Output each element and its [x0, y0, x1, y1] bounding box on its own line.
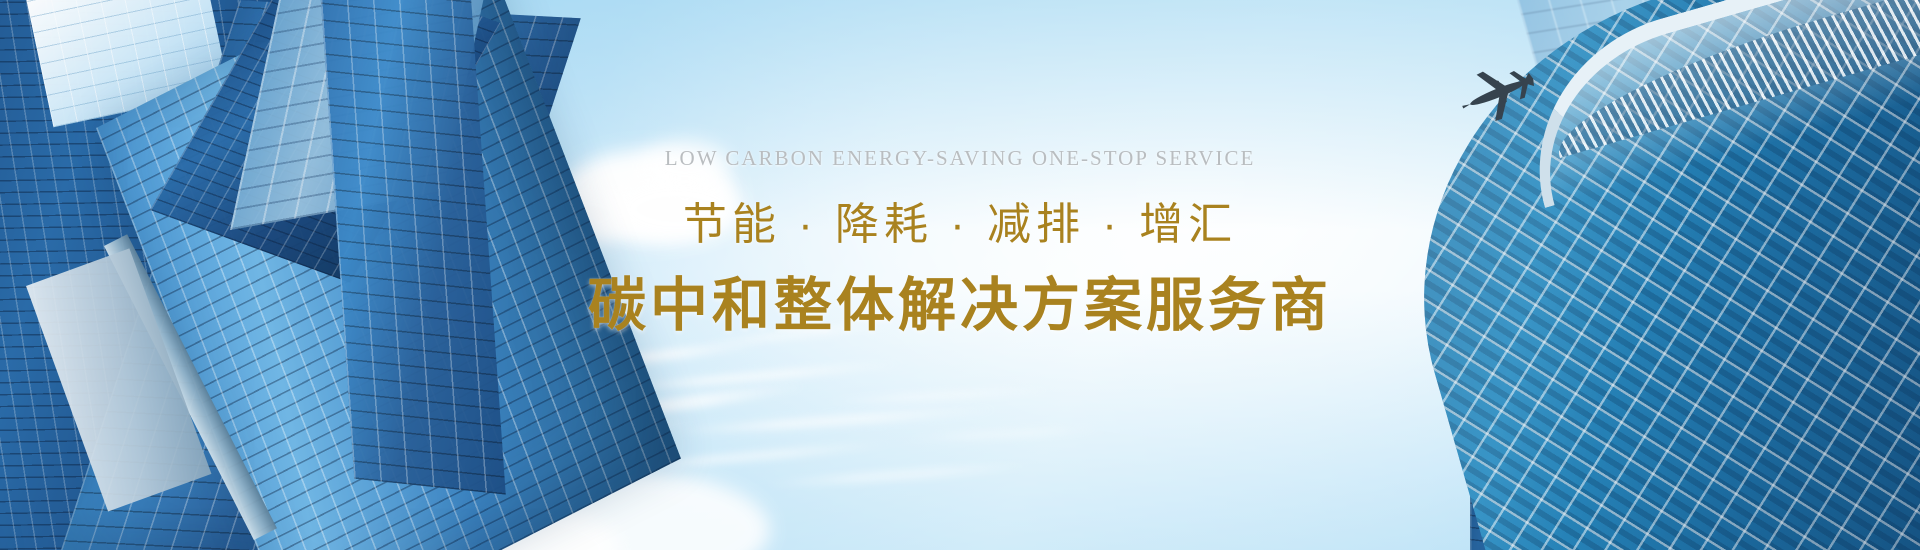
- hero-banner: LOW CARBON ENERGY-SAVING ONE-STOP SERVIC…: [0, 0, 1920, 550]
- banner-headline: 碳中和整体解决方案服务商: [0, 277, 1920, 335]
- banner-text-block: LOW CARBON ENERGY-SAVING ONE-STOP SERVIC…: [0, 148, 1920, 335]
- banner-eyebrow: LOW CARBON ENERGY-SAVING ONE-STOP SERVIC…: [0, 148, 1920, 169]
- banner-subtitle: 节能 · 降耗 · 减排 · 增汇: [0, 203, 1920, 247]
